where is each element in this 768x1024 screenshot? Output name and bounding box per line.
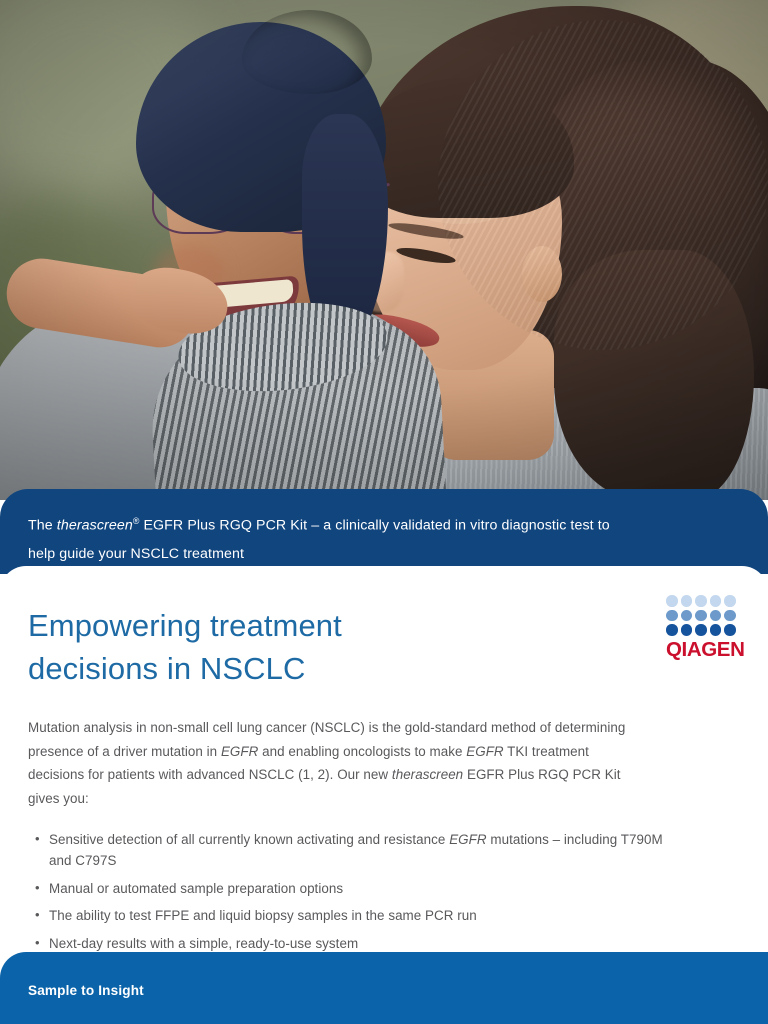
- banner-line-2: help guide your NSCLC treatment: [28, 540, 728, 568]
- bullet-seg-1: Next-day results with a simple, ready-to…: [49, 936, 358, 951]
- brochure-page: The therascreen® EGFR Plus RGQ PCR Kit –…: [0, 0, 768, 1024]
- logo-dot: [681, 595, 693, 607]
- logo-dot: [724, 624, 736, 636]
- banner-prefix: The: [28, 518, 57, 534]
- logo-dot-grid: [666, 595, 742, 636]
- banner-suffix: EGFR Plus RGQ PCR Kit – a clinically val…: [139, 518, 609, 534]
- banner-line-1: The therascreen® EGFR Plus RGQ PCR Kit –…: [28, 507, 728, 540]
- product-name-italic: therascreen: [392, 767, 463, 782]
- hero-image: [0, 0, 768, 500]
- logo-dot: [681, 624, 693, 636]
- logo-dot: [695, 610, 707, 622]
- list-item: Sensitive detection of all currently kno…: [28, 829, 668, 871]
- qiagen-wordmark: QIAGEN: [666, 639, 742, 661]
- logo-dot: [666, 610, 678, 622]
- qiagen-logo: QIAGEN: [666, 595, 742, 661]
- bullet-seg-1: Manual or automated sample preparation o…: [49, 881, 343, 896]
- product-name-italic: therascreen: [57, 518, 133, 534]
- footer-tagline: Sample to Insight: [28, 983, 768, 998]
- logo-dot: [710, 610, 722, 622]
- logo-dot: [681, 610, 693, 622]
- hero-photograph: [0, 0, 768, 500]
- logo-dot: [724, 595, 736, 607]
- list-item: Manual or automated sample preparation o…: [28, 878, 668, 899]
- gene-name-italic: EGFR: [466, 744, 503, 759]
- tagline-banner: The therascreen® EGFR Plus RGQ PCR Kit –…: [0, 489, 768, 574]
- list-item: The ability to test FFPE and liquid biop…: [28, 905, 668, 926]
- logo-dot: [724, 610, 736, 622]
- page-title: Empowering treatmentdecisions in NSCLC: [28, 604, 588, 690]
- footer-bar: Sample to Insight: [0, 952, 768, 1024]
- logo-dot: [710, 624, 722, 636]
- intro-paragraph: Mutation analysis in non-small cell lung…: [28, 716, 642, 810]
- logo-dot-row-dark: [666, 624, 742, 636]
- gene-name-italic: EGFR: [221, 744, 258, 759]
- headline-line-1: Empowering treatment: [28, 608, 342, 643]
- logo-dot: [695, 624, 707, 636]
- logo-dot: [666, 624, 678, 636]
- content-panel: QIAGEN Empowering treatmentdecisions in …: [0, 566, 768, 958]
- bullet-seg-1: Sensitive detection of all currently kno…: [49, 832, 449, 847]
- intro-seg-2: and enabling oncologists to make: [258, 744, 466, 759]
- headline-line-2: decisions in NSCLC: [28, 651, 305, 686]
- older-woman-figure: [92, 18, 422, 500]
- logo-dot: [666, 595, 678, 607]
- list-item: Next-day results with a simple, ready-to…: [28, 933, 668, 954]
- hair-strand-texture: [438, 20, 768, 350]
- logo-dot: [710, 595, 722, 607]
- logo-dot-row-light: [666, 595, 742, 607]
- bullet-seg-1: The ability to test FFPE and liquid biop…: [49, 908, 477, 923]
- gene-name-italic: EGFR: [449, 832, 486, 847]
- logo-dot: [695, 595, 707, 607]
- logo-dot-row-mid: [666, 610, 742, 622]
